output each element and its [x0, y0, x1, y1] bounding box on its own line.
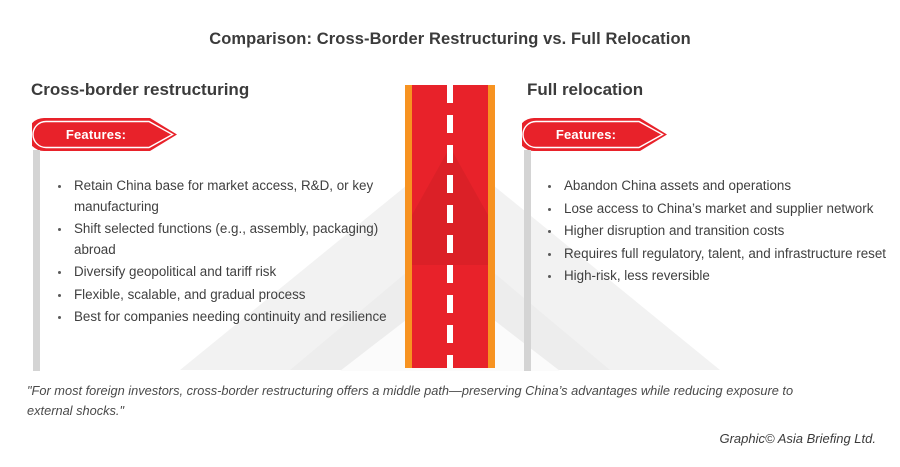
list-item: Higher disruption and transition costs: [547, 221, 887, 242]
features-badge-label-right: Features:: [522, 118, 650, 151]
list-item: High-risk, less reversible: [547, 266, 887, 287]
road-divider-graphic: [405, 85, 495, 368]
page-title: Comparison: Cross-Border Restructuring v…: [0, 30, 900, 49]
pull-quote: "For most foreign investors, cross-borde…: [27, 381, 842, 421]
road-lane-marking: [447, 85, 453, 368]
credit-line: Graphic© Asia Briefing Ltd.: [719, 431, 876, 446]
feature-list-right: Abandon China assets and operations Lose…: [547, 176, 887, 289]
list-item: Abandon China assets and operations: [547, 176, 887, 197]
road-surface: [412, 85, 488, 368]
column-heading-right: Full relocation: [527, 80, 643, 100]
column-heading-left: Cross-border restructuring: [31, 80, 249, 100]
list-item: Best for companies needing continuity an…: [57, 307, 387, 328]
list-item: Diversify geopolitical and tariff risk: [57, 262, 387, 283]
features-badge-left: Features:: [32, 118, 178, 151]
list-item: Requires full regulatory, talent, and in…: [547, 244, 887, 265]
features-badge-right: Features:: [522, 118, 668, 151]
feature-list-left: Retain China base for market access, R&D…: [57, 176, 387, 330]
list-item: Shift selected functions (e.g., assembly…: [57, 219, 387, 260]
column-divider-left: [33, 150, 40, 371]
list-item: Lose access to China’s market and suppli…: [547, 199, 887, 220]
column-divider-right: [524, 150, 531, 371]
road-edge-right: [488, 85, 495, 368]
infographic-canvas: Comparison: Cross-Border Restructuring v…: [0, 0, 900, 467]
list-item: Flexible, scalable, and gradual process: [57, 285, 387, 306]
list-item: Retain China base for market access, R&D…: [57, 176, 387, 217]
road-edge-left: [405, 85, 412, 368]
features-badge-label-left: Features:: [32, 118, 160, 151]
